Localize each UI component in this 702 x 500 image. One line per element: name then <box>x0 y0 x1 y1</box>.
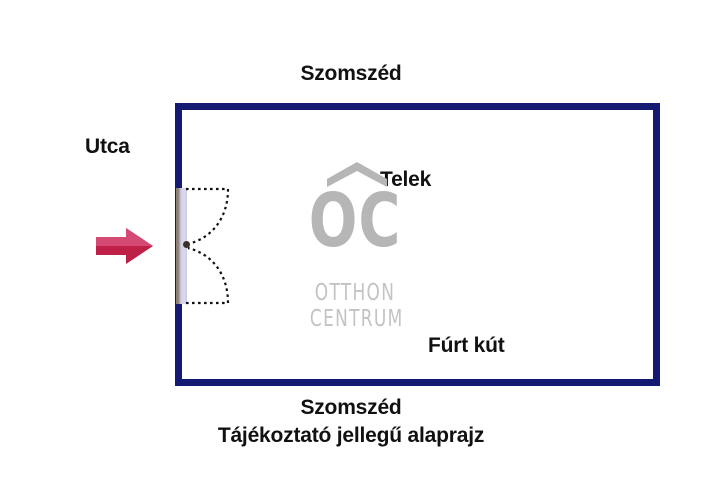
gate-hinge-icon <box>183 241 190 248</box>
logo-line-otthon: OTTHON <box>310 282 400 305</box>
label-well: Fúrt kút <box>428 334 505 358</box>
otthon-centrum-watermark: OC OTTHON CENTRUM <box>300 160 410 330</box>
label-neighbour-bottom: Szomszéd <box>0 396 702 420</box>
floorplan-caption: Tájékoztató jellegű alaprajz <box>0 424 702 448</box>
label-neighbour-top: Szomszéd <box>0 62 702 86</box>
label-street: Utca <box>85 135 130 159</box>
parcel-outline <box>175 103 660 386</box>
gate-swing <box>172 186 242 306</box>
floorplan-canvas: Szomszéd Utca Telek OC OTTHON CENTRUM <box>0 0 702 500</box>
logo-line-centrum: CENTRUM <box>310 308 400 331</box>
logo-monogram: OC <box>308 184 403 258</box>
entry-arrow-icon <box>96 227 154 265</box>
